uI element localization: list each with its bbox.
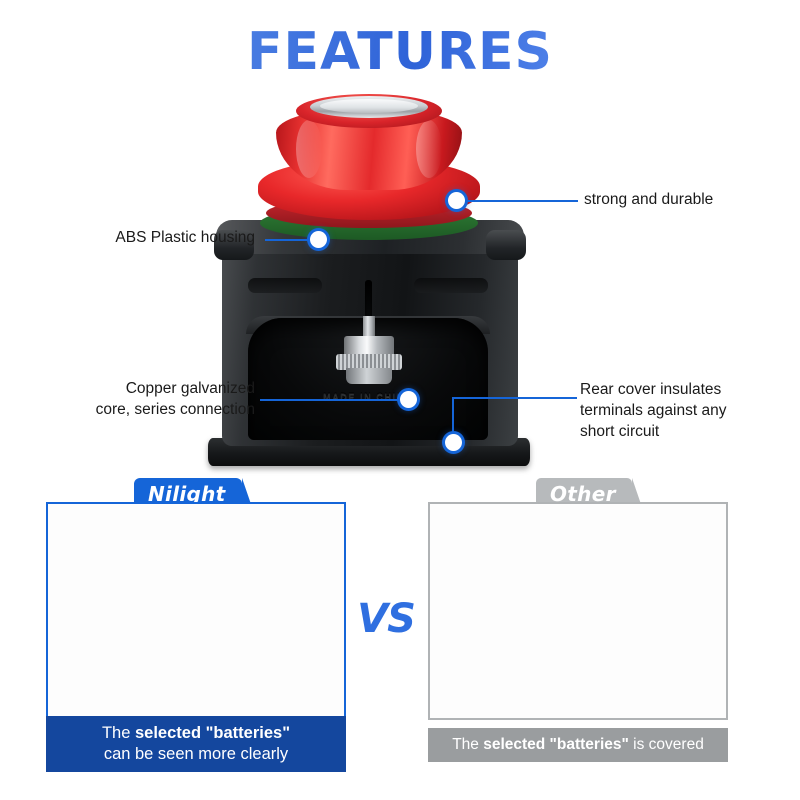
caption-nilight-bold: selected "batteries" [135, 724, 290, 742]
knob-grip-right [416, 120, 442, 178]
callout-dot-strong-and-durable [448, 192, 465, 209]
callout-strong-and-durable: strong and durable [584, 190, 713, 211]
caption-other-suffix: is covered [629, 736, 704, 753]
terminal-base [346, 368, 392, 384]
page-title: FEATURES [0, 22, 800, 82]
callout-abs-plastic-housing: ABS Plastic housing [40, 228, 255, 249]
leader-line-copper-core [260, 399, 405, 401]
callout-dot-copper-core [400, 391, 417, 408]
caption-nilight-prefix: The [102, 724, 135, 742]
leader-line-strong-and-durable [548, 200, 578, 202]
knob-grip-left [296, 120, 322, 178]
caption-nilight: The selected "batteries" can be seen mor… [46, 716, 346, 772]
vs-separator: VS [352, 596, 420, 642]
caption-nilight-line1: The selected "batteries" [50, 723, 342, 744]
caption-other-prefix: The [452, 736, 483, 753]
callout-dot-abs-housing [310, 231, 327, 248]
caption-other-bold: selected "batteries" [483, 736, 629, 753]
panel-other: + − [428, 502, 728, 720]
callout-dot-rear-cover [445, 434, 462, 451]
product-hero-image: MADE IN CHINA [200, 80, 600, 480]
callout-rear-cover: Rear cover insulates terminals against a… [580, 380, 795, 442]
panel-nilight: OFF ON Nilight − + [46, 502, 346, 720]
leader-line-abs-housing [265, 239, 315, 241]
callout-copper-core: Copper galvanized core, series connectio… [25, 379, 255, 421]
body-recess-right [414, 278, 488, 293]
knob-top-plate-inner [320, 99, 418, 113]
caption-nilight-line2: can be seen more clearly [50, 744, 342, 765]
leader-line-rear-cover [452, 397, 577, 399]
body-recess-left [248, 278, 322, 293]
features-infographic: FEATURES MADE IN CHINA strong and durabl… [0, 0, 800, 800]
caption-other: The selected "batteries" is covered [428, 728, 728, 762]
mounting-ear-right [486, 230, 526, 260]
leader-line-strong-and-durable-2 [455, 200, 550, 202]
